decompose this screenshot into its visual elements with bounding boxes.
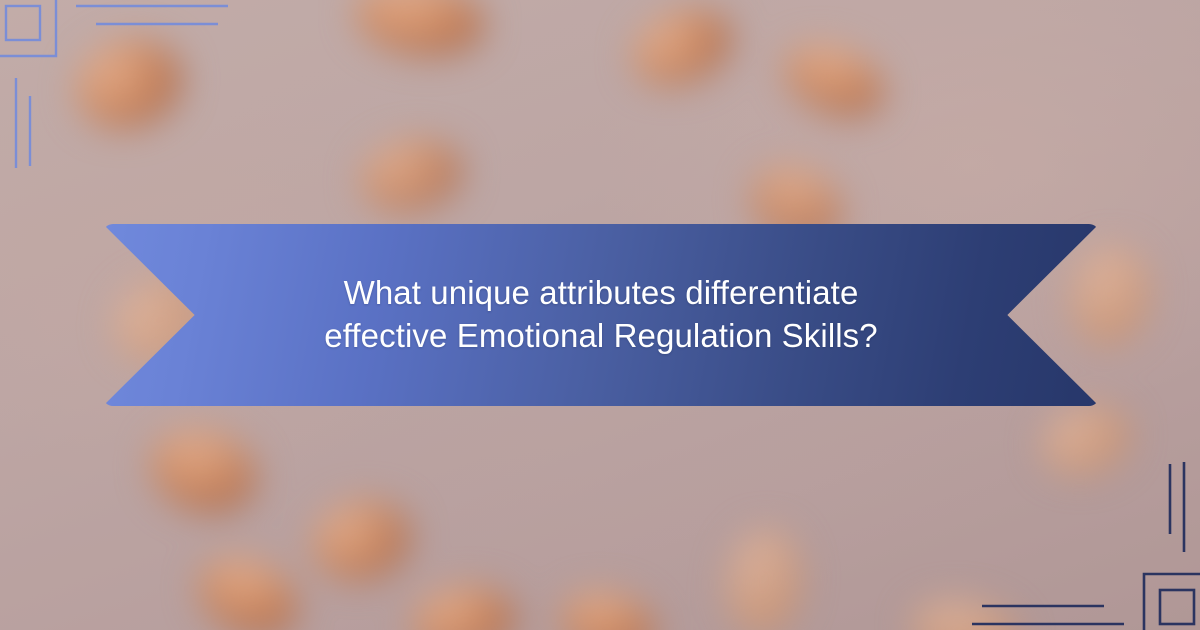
background-blob <box>408 579 521 630</box>
background-blob <box>64 25 194 142</box>
background-blob <box>721 524 808 630</box>
background-blob <box>354 130 471 222</box>
background-blob <box>350 0 489 65</box>
background-blob <box>773 31 894 131</box>
poster-canvas: What unique attributes differentiate eff… <box>0 0 1200 630</box>
background-blob <box>141 417 267 526</box>
headline-ribbon: What unique attributes differentiate eff… <box>103 224 1099 406</box>
headline-line-2: effective Emotional Regulation Skills? <box>324 315 878 358</box>
background-blob <box>553 581 662 630</box>
background-blob <box>1031 392 1140 487</box>
background-blob <box>620 0 743 101</box>
headline-line-1: What unique attributes differentiate <box>344 272 859 315</box>
background-blob <box>905 591 1024 630</box>
background-blob <box>304 489 420 591</box>
background-blob <box>185 542 310 630</box>
headline-text: What unique attributes differentiate eff… <box>103 224 1099 406</box>
